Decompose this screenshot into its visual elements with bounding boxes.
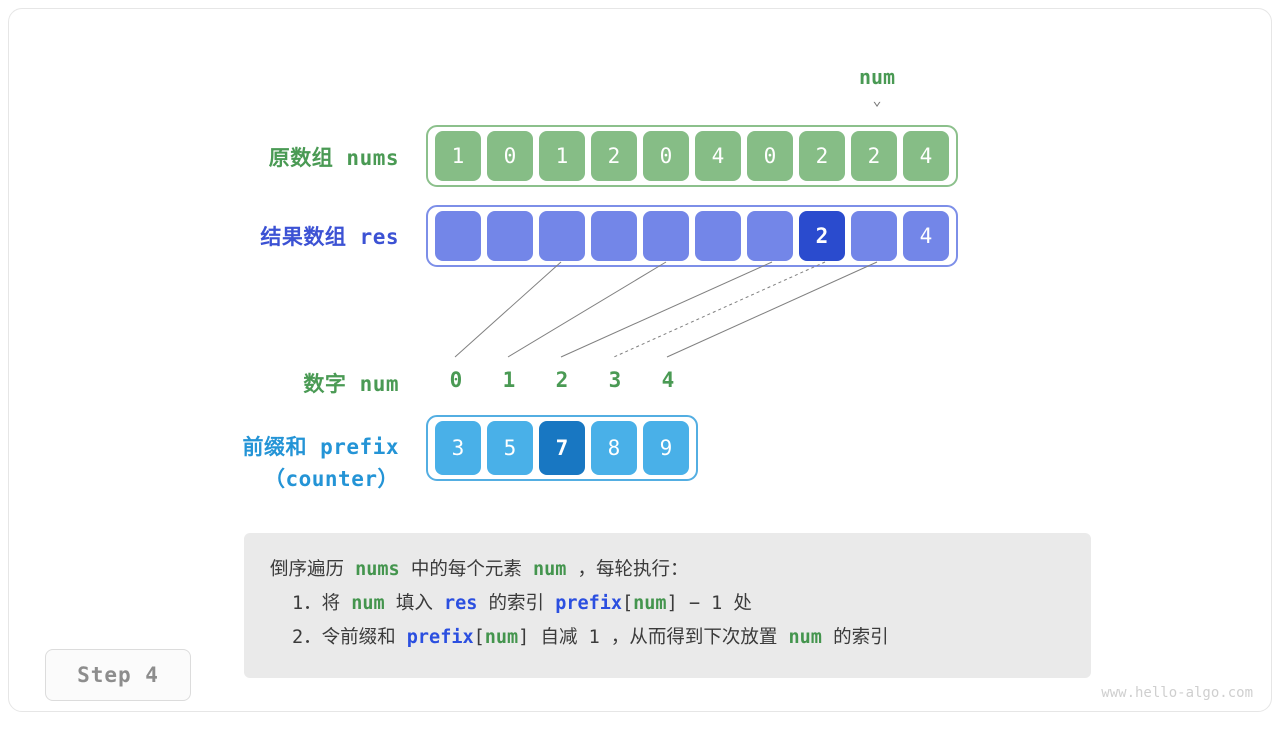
prefix-cell: 7 [539,421,585,475]
chevron-down-icon: ⌄ [847,93,907,108]
digit-label: 4 [642,368,694,392]
digit-label: 2 [536,368,588,392]
caption-text: 倒序遍历 [270,559,355,580]
caption-text: ，每轮执行： [566,559,688,580]
caption-text: 的索引 [477,593,555,614]
step-badge: Step 4 [45,649,191,701]
caption-text: 中的每个元素 [400,559,533,580]
nums-cell: 1 [435,131,481,181]
caption-text: [ [474,627,485,648]
nums-cell: 2 [799,131,845,181]
caption-text: 1．将 [292,593,351,614]
caption-kw-num: num [351,593,384,614]
nums-cell: 0 [487,131,533,181]
caption-kw-prefix: prefix [555,593,622,614]
diagram-card: num ⌄ 原数组 nums 1012040224 结果数组 res 24 数字… [8,8,1272,712]
prefix-row-label-line2: （counter） [109,463,399,493]
nums-cell: 4 [695,131,741,181]
connector-line [455,262,561,357]
caption-box: 倒序遍历 nums 中的每个元素 num ，每轮执行： 1．将 num 填入 r… [244,533,1091,678]
prefix-array: 35789 [426,415,698,481]
nums-cell: 0 [643,131,689,181]
caption-kw-num: num [485,627,518,648]
watermark: www.hello-algo.com [1101,685,1253,701]
res-cell [695,211,741,261]
caption-text: 填入 [385,593,444,614]
res-cell: 4 [903,211,949,261]
res-cell [539,211,585,261]
caption-text: ] − 1 处 [667,593,752,614]
connector-line [508,262,666,357]
nums-cell: 4 [903,131,949,181]
num-pointer-label: num [847,65,907,89]
connector-line [561,262,772,357]
caption-line-2: 2．令前缀和 prefix[num] 自减 1 ，从而得到下次放置 num 的索… [270,621,1065,655]
caption-line-0: 倒序遍历 nums 中的每个元素 num ，每轮执行： [270,553,1065,587]
prefix-cell: 3 [435,421,481,475]
caption-line-1: 1．将 num 填入 res 的索引 prefix[num] − 1 处 [270,587,1065,621]
caption-text: 的索引 [822,627,889,648]
res-cell [487,211,533,261]
caption-text: ] 自减 1 ，从而得到下次放置 [518,627,788,648]
caption-kw-nums: nums [355,559,400,580]
nums-cell: 2 [591,131,637,181]
caption-kw-prefix: prefix [407,627,474,648]
nums-cell: 2 [851,131,897,181]
digit-label: 3 [589,368,641,392]
res-cell [643,211,689,261]
caption-text: [ [622,593,633,614]
prefix-row-label-line1: 前缀和 prefix [109,431,399,461]
digit-label: 0 [430,368,482,392]
connector-line [614,262,825,357]
nums-array: 1012040224 [426,125,958,187]
caption-text: 2．令前缀和 [292,627,407,648]
connector-line [667,262,877,357]
digits-row-label: 数字 num [149,368,399,398]
prefix-cell: 9 [643,421,689,475]
res-array: 24 [426,205,958,267]
nums-cell: 0 [747,131,793,181]
digit-label: 1 [483,368,535,392]
res-row-label: 结果数组 res [149,221,399,251]
prefix-cell: 5 [487,421,533,475]
res-cell: 2 [799,211,845,261]
caption-kw-res: res [444,593,477,614]
caption-kw-num: num [789,627,822,648]
nums-cell: 1 [539,131,585,181]
nums-row-label: 原数组 nums [149,142,399,172]
res-cell [851,211,897,261]
res-cell [435,211,481,261]
caption-kw-num: num [533,559,566,580]
prefix-cell: 8 [591,421,637,475]
caption-kw-num: num [633,593,666,614]
res-cell [747,211,793,261]
res-cell [591,211,637,261]
